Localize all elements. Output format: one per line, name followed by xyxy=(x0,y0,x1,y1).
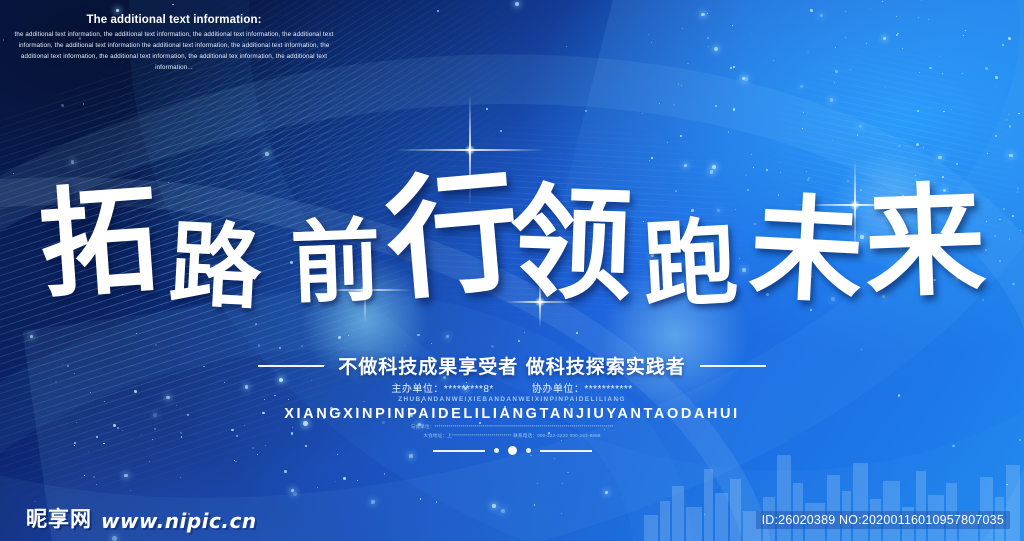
particle xyxy=(180,477,181,478)
particle xyxy=(524,332,525,333)
headline-char-1: 拓 xyxy=(36,179,162,305)
particle xyxy=(648,34,649,35)
image-id-tag: ID:26020389 NO:20200116010957807035 xyxy=(756,511,1010,529)
skyline-building xyxy=(853,463,868,541)
particle xyxy=(1006,119,1007,120)
skyline-building xyxy=(672,486,684,541)
headline-char-8: 来 xyxy=(863,180,988,304)
particle xyxy=(750,33,751,34)
particle xyxy=(921,0,922,1)
particle xyxy=(850,69,851,70)
additional-text-block: The additional text information: the add… xyxy=(14,14,334,73)
particle xyxy=(562,483,563,484)
particle xyxy=(1006,484,1008,486)
particle xyxy=(896,34,898,36)
particle xyxy=(773,60,774,61)
particle xyxy=(537,483,538,484)
particle xyxy=(436,501,437,502)
particle xyxy=(431,343,432,344)
particle xyxy=(857,134,859,136)
additional-text-body: the additional text information, the add… xyxy=(14,30,334,73)
particle xyxy=(61,104,64,107)
organizer-entry-1: 主办单位：*********8* xyxy=(391,380,493,395)
particle xyxy=(279,347,281,349)
particle xyxy=(870,8,871,9)
particle xyxy=(678,83,680,85)
particle xyxy=(923,147,924,148)
particle xyxy=(515,2,519,6)
particle xyxy=(124,474,127,477)
particle xyxy=(84,475,86,477)
fine-print-line-1: 与会单位：***********************************… xyxy=(0,424,1024,430)
watermark: 昵享网 www.nipic.cn xyxy=(26,503,257,533)
particle xyxy=(116,9,119,12)
particle xyxy=(235,461,237,463)
particle xyxy=(446,335,449,338)
particle xyxy=(830,98,834,102)
particle xyxy=(491,345,494,348)
particle xyxy=(1002,44,1004,46)
particle xyxy=(667,142,668,143)
particle xyxy=(917,110,919,112)
particle xyxy=(687,63,689,65)
particle xyxy=(995,135,997,137)
particle xyxy=(995,76,998,79)
particle xyxy=(404,345,405,346)
subtitle-rule-left xyxy=(258,365,324,367)
particle xyxy=(130,490,131,491)
particle xyxy=(673,104,675,106)
particle xyxy=(93,476,95,478)
particle xyxy=(486,108,488,110)
particle xyxy=(659,103,660,104)
particle xyxy=(1008,37,1011,40)
headline-char-2: 路 xyxy=(167,218,264,315)
particle xyxy=(810,9,813,12)
particle xyxy=(561,440,562,441)
particle xyxy=(682,28,684,30)
particle xyxy=(680,135,682,137)
organizer-row: 主办单位：*********8*协办单位：*********** xyxy=(0,380,1024,395)
decorative-divider xyxy=(0,446,1024,455)
skyline-building xyxy=(916,471,926,541)
divider-dot-small-left xyxy=(494,448,499,453)
particle xyxy=(293,492,297,496)
headline-char-5: 领 xyxy=(507,181,634,308)
particle xyxy=(861,349,862,350)
particle xyxy=(605,491,608,494)
particle xyxy=(561,513,562,514)
particle xyxy=(357,480,358,481)
particle xyxy=(149,461,150,462)
particle xyxy=(3,39,5,41)
particle xyxy=(939,56,940,57)
particle xyxy=(371,500,375,504)
particle xyxy=(1008,114,1009,115)
particle xyxy=(341,347,342,348)
particle xyxy=(576,332,578,334)
particle xyxy=(258,344,261,347)
particle xyxy=(335,481,336,482)
particle xyxy=(152,439,153,440)
particle xyxy=(317,487,318,488)
particle xyxy=(642,113,643,114)
particle xyxy=(284,470,287,473)
particle xyxy=(730,67,732,69)
particle xyxy=(30,335,34,339)
particle xyxy=(34,501,36,503)
particle xyxy=(732,25,733,26)
particle xyxy=(518,340,520,342)
particle xyxy=(882,1,883,2)
divider-dot-large xyxy=(508,446,517,455)
particle xyxy=(835,70,838,73)
subtitle-rule-right xyxy=(700,365,766,367)
particle xyxy=(501,509,505,513)
particle xyxy=(704,514,705,515)
particle xyxy=(896,16,897,17)
particle xyxy=(112,536,117,541)
particle xyxy=(744,77,748,81)
particle xyxy=(733,66,735,68)
subtitle-text: 不做科技成果享受者 做科技探索实践者 xyxy=(338,352,686,379)
poster-canvas: The additional text information: the add… xyxy=(0,0,1024,541)
particle xyxy=(420,498,421,499)
particle xyxy=(800,85,803,88)
particle xyxy=(708,46,709,47)
particle xyxy=(103,443,105,445)
particle xyxy=(74,442,77,445)
particle xyxy=(962,73,963,74)
pinyin-large: XIANGXINPINPAIDELILIANGTANJIUYANTAODAHUI xyxy=(0,406,1024,422)
particle xyxy=(136,333,137,334)
particle xyxy=(715,105,717,107)
headline-char-4: 行 xyxy=(381,164,524,307)
divider-line-left xyxy=(433,450,485,452)
particle xyxy=(802,128,803,129)
particle xyxy=(898,145,900,147)
particle xyxy=(1009,125,1012,128)
particle xyxy=(534,504,536,506)
particle xyxy=(883,37,887,41)
particle xyxy=(733,108,736,111)
particle xyxy=(301,345,303,347)
particle xyxy=(834,82,835,83)
particle xyxy=(885,87,886,88)
particle xyxy=(172,4,174,6)
skyline-building xyxy=(644,515,658,541)
particle xyxy=(701,13,705,17)
subtitle-row: 不做科技成果享受者 做科技探索实践者 xyxy=(0,352,1024,379)
particle xyxy=(916,143,919,146)
headline-char-6: 跑 xyxy=(641,214,740,313)
particle xyxy=(897,33,899,35)
fine-print-line-2: 大会地址：上****************************** 联系电… xyxy=(0,433,1024,439)
particle xyxy=(803,112,804,113)
particle xyxy=(437,10,439,12)
particle xyxy=(155,344,156,345)
skyline-building xyxy=(1006,465,1020,541)
skyline-building xyxy=(686,507,702,541)
particle xyxy=(942,73,944,75)
particle xyxy=(902,48,903,49)
organizer-entry-2: 协办单位：*********** xyxy=(532,380,633,395)
additional-text-title: The additional text information: xyxy=(14,14,334,26)
particle xyxy=(96,484,97,485)
particle xyxy=(807,52,809,54)
particle xyxy=(707,37,709,39)
particle xyxy=(343,477,346,480)
particle xyxy=(996,86,997,87)
particle xyxy=(728,131,730,133)
particle xyxy=(919,72,920,73)
particle xyxy=(348,335,349,336)
divider-dot-small-right xyxy=(526,448,531,453)
divider-line-right xyxy=(540,450,592,452)
particle xyxy=(835,47,836,48)
particle xyxy=(965,30,966,31)
headline-char-3: 前 xyxy=(289,216,382,309)
particle xyxy=(714,47,718,51)
particle xyxy=(845,37,846,38)
particle xyxy=(707,13,708,14)
particle xyxy=(585,110,587,112)
particle xyxy=(566,46,567,47)
watermark-url: www.nipic.cn xyxy=(101,509,257,533)
headline: 拓路前行领跑未来 xyxy=(0,150,1024,330)
particle xyxy=(929,67,931,69)
skyline-building xyxy=(980,477,993,541)
particle xyxy=(492,504,496,508)
particle xyxy=(500,130,502,132)
skyline-building xyxy=(715,493,728,541)
particle xyxy=(567,472,569,474)
particle xyxy=(1018,113,1020,115)
particle xyxy=(681,85,682,86)
particle xyxy=(291,489,294,492)
particle xyxy=(234,460,235,461)
particle xyxy=(820,14,823,17)
particle xyxy=(651,42,652,43)
watermark-logo: 昵享网 xyxy=(26,503,92,533)
particle xyxy=(832,140,833,141)
pinyin-small: ZHUBANDANWEIXIEBANDANWEIXINPINPAIDELILIA… xyxy=(0,396,1024,403)
particle xyxy=(384,473,385,474)
skyline-building xyxy=(704,469,713,541)
particle xyxy=(554,458,555,459)
particle xyxy=(951,109,952,110)
particle xyxy=(417,334,420,337)
particle xyxy=(963,35,965,37)
headline-char-7: 未 xyxy=(747,190,866,309)
skyline-building xyxy=(660,501,670,541)
particle xyxy=(928,19,929,20)
skyline-building xyxy=(827,475,840,541)
particle xyxy=(918,17,919,18)
particle xyxy=(985,67,988,70)
particle xyxy=(845,11,847,13)
particle xyxy=(859,125,862,128)
particle xyxy=(943,111,944,112)
particle xyxy=(122,430,123,431)
particle xyxy=(83,103,85,105)
skyline-building xyxy=(730,479,741,541)
particle xyxy=(866,43,867,44)
particle xyxy=(742,77,745,80)
particle xyxy=(338,336,341,339)
